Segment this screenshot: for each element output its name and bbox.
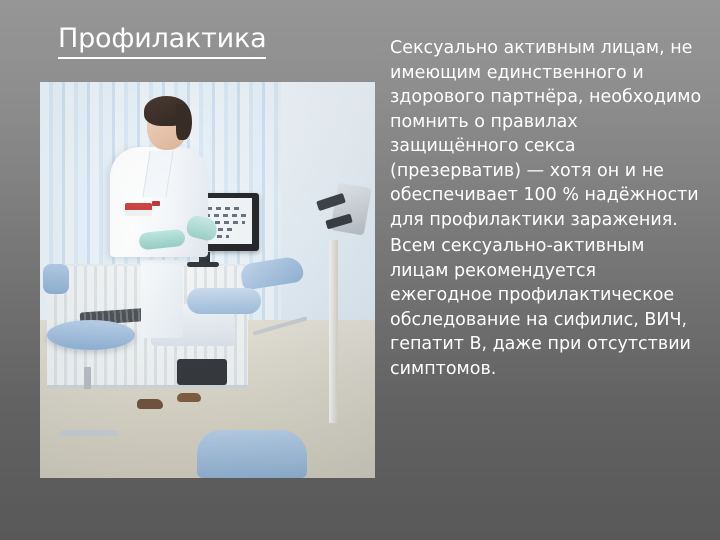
paragraph-prevention-safe-sex: Сексуально активным лицам, не имеющим ед… bbox=[390, 36, 702, 232]
body-text-block: Сексуально активным лицам, не имеющим ед… bbox=[390, 36, 702, 381]
clinic-photo bbox=[40, 82, 375, 478]
paragraph-annual-screening: Всем сексуально-активным лицам рекоменду… bbox=[390, 234, 702, 381]
photo-lighting-overlay bbox=[40, 82, 375, 478]
presentation-slide: Профилактика bbox=[0, 0, 720, 540]
page-title: Профилактика bbox=[58, 22, 266, 59]
title-block: Профилактика bbox=[40, 22, 360, 70]
